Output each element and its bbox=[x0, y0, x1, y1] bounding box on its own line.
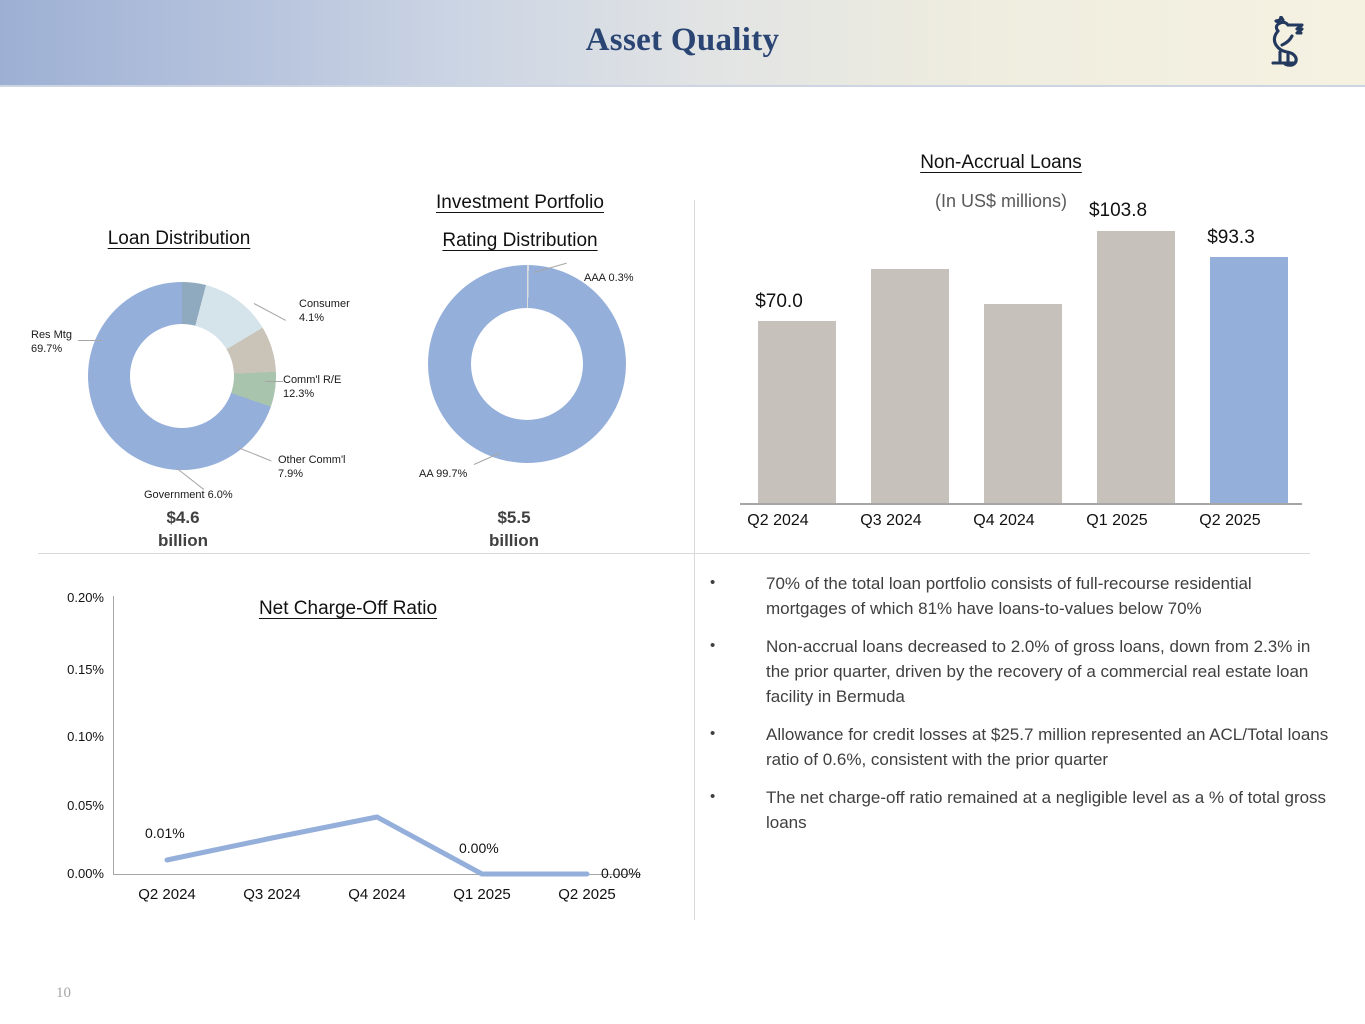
line-category-q2-2025: Q2 2025 bbox=[532, 886, 642, 903]
investment-total-value: $5.5 bbox=[497, 508, 530, 527]
pie-label-cre-value: 12.3% bbox=[283, 388, 314, 400]
bar-value-q1-2025: $103.8 bbox=[1058, 200, 1178, 222]
bullet-marker: • bbox=[700, 572, 766, 621]
loan-total-value: $4.6 bbox=[166, 508, 199, 527]
bar-q4-2024 bbox=[984, 304, 1062, 504]
ytick-label-0-05: 0.05% bbox=[38, 798, 104, 813]
pie-label-aaa: AAA 0.3% bbox=[584, 272, 634, 286]
griffin-logo-icon bbox=[1258, 16, 1314, 70]
non-accrual-title: Non-Accrual Loans bbox=[860, 152, 1142, 174]
ytick-label-0-20: 0.20% bbox=[38, 590, 104, 605]
line-category-q3-2024: Q3 2024 bbox=[217, 886, 327, 903]
list-item: • Non-accrual loans decreased to 2.0% of… bbox=[700, 635, 1330, 709]
bar-category-q4-2024: Q4 2024 bbox=[939, 512, 1069, 530]
bullet-text: Allowance for credit losses at $25.7 mil… bbox=[766, 723, 1330, 772]
pie-label-other-comml-name: Other Comm'l bbox=[278, 454, 346, 466]
bullet-marker: • bbox=[700, 786, 766, 835]
pie-label-consumer: Consumer 4.1% bbox=[299, 298, 350, 326]
vertical-divider bbox=[694, 200, 695, 920]
pie-label-res-mtg: Res Mtg 69.7% bbox=[31, 329, 72, 357]
investment-portfolio-total: $5.5 billion bbox=[452, 507, 576, 553]
leader-line-cre bbox=[265, 381, 283, 382]
pie-label-aa: AA 99.7% bbox=[419, 468, 467, 482]
horizontal-divider bbox=[38, 553, 1310, 554]
bar-category-q2-2025: Q2 2025 bbox=[1165, 512, 1295, 530]
bullet-marker: • bbox=[700, 723, 766, 772]
list-item: • 70% of the total loan portfolio consis… bbox=[700, 572, 1330, 621]
pie-label-res-mtg-value: 69.7% bbox=[31, 343, 62, 355]
bullet-text: The net charge-off ratio remained at a n… bbox=[766, 786, 1330, 835]
bullet-text: Non-accrual loans decreased to 2.0% of g… bbox=[766, 635, 1330, 709]
line-value-q2-2024: 0.01% bbox=[145, 825, 185, 841]
page-number: 10 bbox=[56, 985, 71, 1002]
bar-value-q2-2024: $70.0 bbox=[719, 291, 839, 313]
header-divider bbox=[0, 85, 1365, 87]
leader-line-consumer bbox=[254, 303, 286, 321]
pie-label-cre-name: Comm'l R/E bbox=[283, 374, 341, 386]
investment-total-unit: billion bbox=[489, 531, 539, 550]
loan-donut-hole bbox=[130, 324, 234, 428]
investment-donut-hole bbox=[471, 308, 583, 420]
line-value-q2-2025: 0.00% bbox=[601, 865, 641, 881]
bar-q1-2025 bbox=[1097, 231, 1175, 504]
list-item: • Allowance for credit losses at $25.7 m… bbox=[700, 723, 1330, 772]
bar-category-q3-2024: Q3 2024 bbox=[826, 512, 956, 530]
commentary-list: • 70% of the total loan portfolio consis… bbox=[700, 572, 1330, 850]
bar-value-q2-2025: $93.3 bbox=[1171, 227, 1291, 249]
line-category-q4-2024: Q4 2024 bbox=[322, 886, 432, 903]
line-value-q1-2025: 0.00% bbox=[459, 840, 499, 856]
loan-distribution-title: Loan Distribution bbox=[60, 228, 298, 250]
ytick-label-0-10: 0.10% bbox=[38, 729, 104, 744]
ytick-label-0-15: 0.15% bbox=[38, 662, 104, 677]
list-item: • The net charge-off ratio remained at a… bbox=[700, 786, 1330, 835]
loan-total-unit: billion bbox=[158, 531, 208, 550]
bullet-text: 70% of the total loan portfolio consists… bbox=[766, 572, 1330, 621]
pie-label-government: Government 6.0% bbox=[144, 489, 233, 503]
net-chargeoff-line-series bbox=[113, 590, 643, 880]
line-category-q1-2025: Q1 2025 bbox=[427, 886, 537, 903]
leader-line-other-comml bbox=[238, 447, 272, 461]
pie-label-other-comml: Other Comm'l 7.9% bbox=[278, 454, 346, 482]
bar-category-q1-2025: Q1 2025 bbox=[1052, 512, 1182, 530]
pie-label-consumer-value: 4.1% bbox=[299, 312, 324, 324]
pie-label-cre: Comm'l R/E 12.3% bbox=[283, 374, 341, 402]
line-category-q2-2024: Q2 2024 bbox=[112, 886, 222, 903]
pie-label-consumer-name: Consumer bbox=[299, 298, 350, 310]
bar-q2-2025 bbox=[1210, 257, 1288, 504]
pie-label-res-mtg-name: Res Mtg bbox=[31, 329, 72, 341]
bar-category-q2-2024: Q2 2024 bbox=[713, 512, 843, 530]
bar-q3-2024 bbox=[871, 269, 949, 504]
pie-label-other-comml-value: 7.9% bbox=[278, 468, 303, 480]
ytick-label-0-00: 0.00% bbox=[38, 866, 104, 881]
investment-portfolio-title-line1: Investment Portfolio bbox=[400, 192, 640, 214]
bar-q2-2024 bbox=[758, 321, 836, 504]
bar-chart-baseline bbox=[740, 503, 1302, 505]
bullet-marker: • bbox=[700, 635, 766, 709]
leader-line-res-mtg bbox=[78, 340, 102, 341]
loan-distribution-total: $4.6 billion bbox=[110, 507, 256, 553]
non-accrual-bar-chart bbox=[740, 220, 1310, 504]
leader-line-government bbox=[177, 468, 204, 490]
investment-portfolio-title-line2: Rating Distribution bbox=[400, 230, 640, 252]
page-title: Asset Quality bbox=[0, 22, 1365, 59]
